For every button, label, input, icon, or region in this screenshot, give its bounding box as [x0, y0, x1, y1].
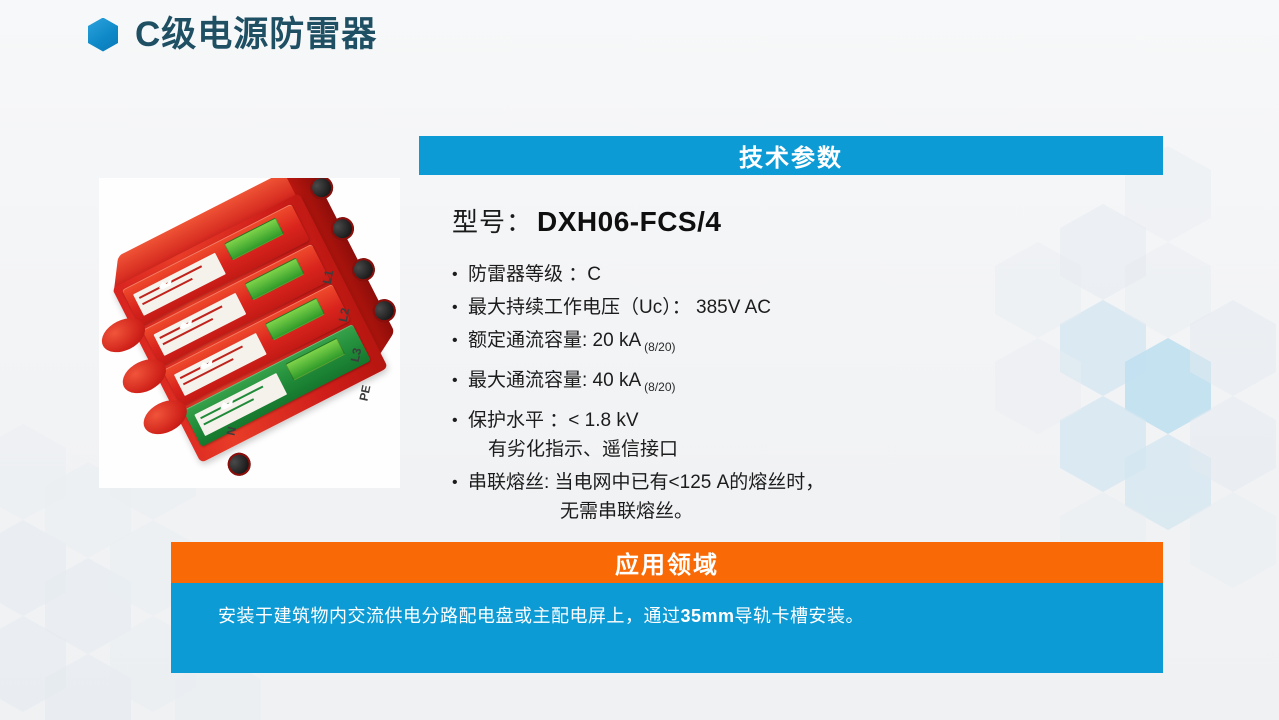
spec-line: 最大通流容量: 40 kA(8/20)	[468, 366, 1092, 402]
spec-line: 有劣化指示、遥信接口	[468, 435, 1092, 464]
spec-body: 最大持续工作电压（Uc）： 385V AC	[468, 293, 1092, 322]
terminal-screw-n	[224, 449, 255, 480]
spec-line: 防雷器等级 ：C	[468, 260, 1092, 289]
spec-line: 串联熔丝: 当电网中已有<125 A的熔丝时，	[468, 468, 1092, 497]
spec-text: 有劣化指示、遥信接口	[488, 439, 678, 460]
application-text-part: 安装于建筑物内交流供电分路配电盘或主配电屏上，通过	[218, 606, 681, 626]
spec-text: 串联熔丝: 当电网中已有<125 A的熔丝时，	[468, 472, 824, 493]
spec-item: •最大持续工作电压（Uc）： 385V AC	[452, 293, 1092, 322]
spec-body: 保护水平 ：< 1.8 kV有劣化指示、遥信接口	[468, 406, 1092, 464]
spec-item: •额定通流容量: 20 kA(8/20)	[452, 326, 1092, 362]
brand-mark-icon	[218, 397, 235, 411]
spec-text: 保护水平 ：< 1.8 kV	[468, 410, 639, 431]
spec-line: 保护水平 ：< 1.8 kV	[468, 406, 1092, 435]
spec-body: 额定通流容量: 20 kA(8/20)	[468, 326, 1092, 362]
page-title-text: C级电源防雷器	[135, 17, 377, 52]
terminal-label-pe: PE	[356, 384, 373, 403]
terminal-label-l2: L2	[336, 307, 353, 324]
spec-subscript: (8/20)	[644, 380, 675, 394]
photo-stage: L1 L2 L3 PE N	[99, 178, 400, 488]
terminal-label-l3: L3	[348, 347, 365, 364]
spec-item: •保护水平 ：< 1.8 kV有劣化指示、遥信接口	[452, 406, 1092, 464]
bullet-icon: •	[452, 326, 468, 355]
spec-text: 防雷器等级 ：C	[468, 264, 601, 285]
bullet-icon: •	[452, 260, 468, 289]
bullet-icon: •	[452, 468, 468, 497]
brand-mark-icon	[157, 277, 174, 291]
model-row: 型号： DXH06-FCS/4	[452, 202, 721, 239]
terminal-label-l1: L1	[320, 269, 337, 286]
bullet-icon: •	[452, 366, 468, 395]
application-body-text: 安装于建筑物内交流供电分路配电盘或主配电屏上，通过35mm导轨卡槽安装。	[218, 602, 864, 628]
page-title: C级电源防雷器	[88, 17, 377, 52]
spec-list: •防雷器等级 ：C•最大持续工作电压（Uc）： 385V AC•额定通流容量: …	[452, 260, 1092, 530]
spec-text: 无需串联熔丝。	[560, 501, 693, 522]
spec-subscript: (8/20)	[644, 340, 675, 354]
spec-item: •串联熔丝: 当电网中已有<125 A的熔丝时，无需串联熔丝。	[452, 468, 1092, 526]
spec-body: 串联熔丝: 当电网中已有<125 A的熔丝时，无需串联熔丝。	[468, 468, 1092, 526]
spec-line: 无需串联熔丝。	[468, 497, 1092, 526]
application-text-rail-size: 35mm	[681, 606, 735, 626]
spec-line: 额定通流容量: 20 kA(8/20)	[468, 326, 1092, 362]
bullet-icon: •	[452, 406, 468, 435]
spd-device-illustration	[112, 193, 388, 463]
spec-text: 额定通流容量: 20 kA	[468, 330, 641, 351]
application-header-text: 应用领域	[615, 545, 719, 580]
bullet-icon: •	[452, 293, 468, 322]
application-body: 安装于建筑物内交流供电分路配电盘或主配电屏上，通过35mm导轨卡槽安装。	[171, 583, 1163, 673]
hexagon-icon	[88, 18, 118, 52]
spec-text: 最大持续工作电压（Uc）： 385V AC	[468, 297, 771, 318]
application-text-part: 导轨卡槽安装。	[735, 606, 865, 626]
model-value: DXH06-FCS/4	[537, 206, 721, 238]
brand-mark-icon	[198, 357, 215, 371]
slide-canvas: C级电源防雷器	[0, 0, 1279, 720]
model-label: 型号：	[452, 202, 533, 239]
brand-mark-icon	[178, 317, 195, 331]
spec-body: 防雷器等级 ：C	[468, 260, 1092, 289]
product-photo: L1 L2 L3 PE N	[99, 178, 400, 488]
spec-item: •最大通流容量: 40 kA(8/20)	[452, 366, 1092, 402]
spec-body: 最大通流容量: 40 kA(8/20)	[468, 366, 1092, 402]
tech-params-header-text: 技术参数	[739, 138, 843, 173]
application-header: 应用领域	[171, 542, 1163, 583]
tech-params-header: 技术参数	[419, 136, 1163, 175]
spec-text: 最大通流容量: 40 kA	[468, 370, 641, 391]
spec-item: •防雷器等级 ：C	[452, 260, 1092, 289]
spec-line: 最大持续工作电压（Uc）： 385V AC	[468, 293, 1092, 322]
